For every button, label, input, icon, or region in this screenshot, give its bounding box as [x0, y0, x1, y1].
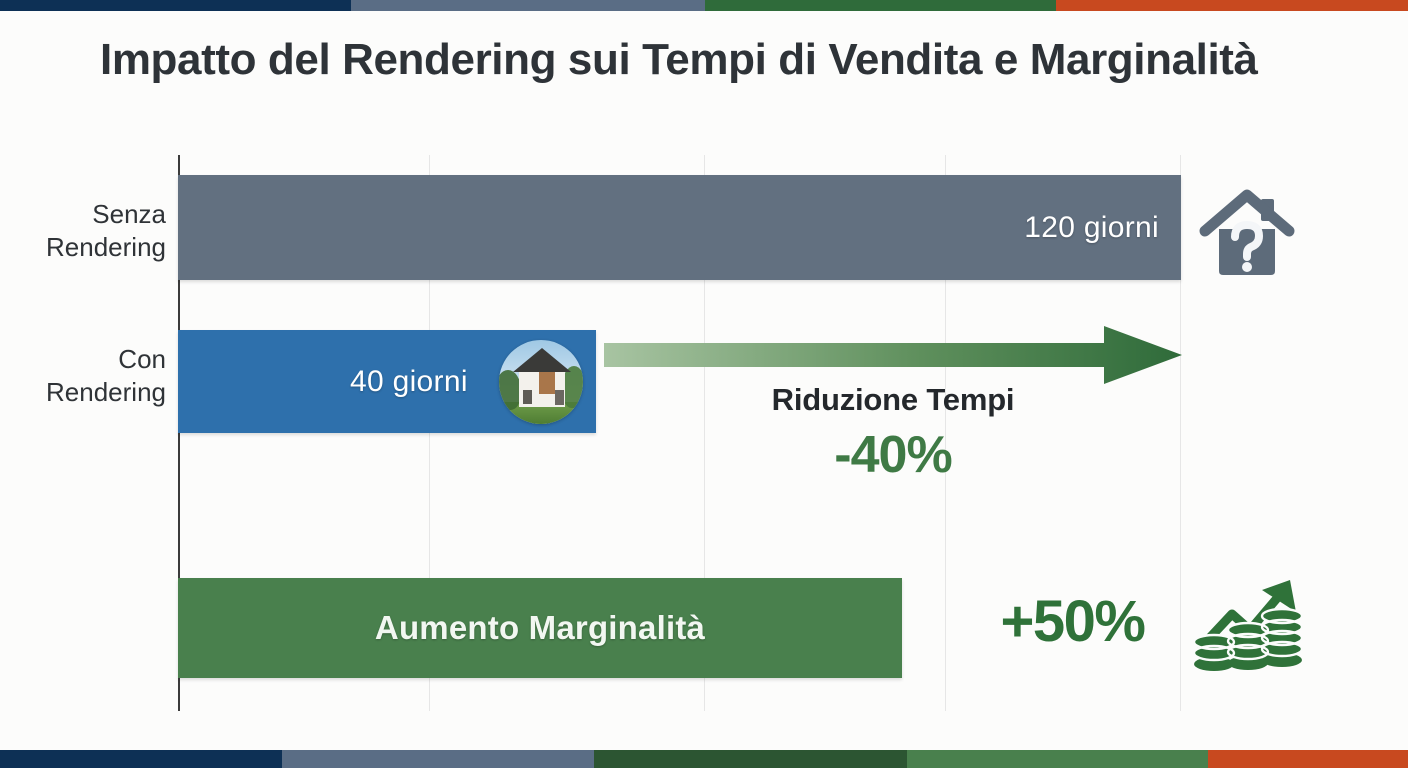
margin-increase-value: +50% — [955, 588, 1190, 655]
category-label-senza-rendering: SenzaRendering — [0, 198, 166, 263]
bar-senza-rendering[interactable]: 120 giorni — [178, 175, 1181, 280]
bar-aumento-marginalita[interactable]: Aumento Marginalità — [178, 578, 902, 678]
bar-value-label-aumento-marginalita: Aumento Marginalità — [178, 609, 902, 647]
callout-value-riduzione-tempi: -40% — [604, 425, 1182, 485]
category-label-line: SenzaRendering — [46, 199, 166, 262]
bar-value-label-senza-rendering: 120 giorni — [1024, 211, 1159, 245]
category-label-con-rendering: ConRendering — [0, 343, 166, 408]
top-accent-segment-slate — [351, 0, 706, 11]
bar-con-rendering[interactable]: 40 giorni — [178, 330, 596, 433]
house-photo-circle-icon — [499, 340, 583, 424]
bottom-accent-segment-navy — [0, 750, 282, 768]
bottom-accent-segment-green — [907, 750, 1208, 768]
callout-label-riduzione-tempi: Riduzione Tempi — [604, 382, 1182, 418]
reduction-arrow-icon — [604, 326, 1182, 384]
top-accent-segment-orange — [1056, 0, 1408, 11]
bar-value-label-con-rendering: 40 giorni — [350, 365, 468, 399]
bottom-accent-segment-slate — [282, 750, 595, 768]
bottom-accent-segment-orange — [1208, 750, 1408, 768]
top-accent-segment-navy — [0, 0, 351, 11]
house-question-icon — [1197, 183, 1297, 283]
infographic-canvas: Impatto del Rendering sui Tempi di Vendi… — [0, 0, 1408, 768]
category-label-line: ConRendering — [46, 344, 166, 407]
top-accent-segment-green — [705, 0, 1056, 11]
top-accent-bar — [0, 0, 1408, 11]
page-title: Impatto del Rendering sui Tempi di Vendi… — [100, 36, 1340, 84]
growth-coins-icon — [1192, 568, 1304, 678]
bottom-accent-bar — [0, 750, 1408, 768]
bottom-accent-segment-dark-green — [594, 750, 907, 768]
